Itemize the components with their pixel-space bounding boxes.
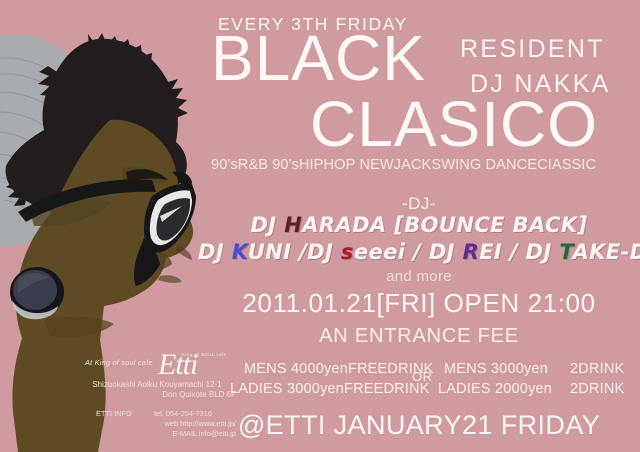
- dj-rei-rest: EI: [479, 240, 502, 264]
- dj-seeei-prefix: DJ: [307, 240, 341, 264]
- poster-text-column: EVERY 3TH FRIDAY BLACK RESIDENT DJ NAKKA…: [198, 0, 640, 452]
- venue-website: web http://www.etti.jp/: [78, 419, 236, 428]
- dj-rei-accent-letter: R: [463, 240, 480, 264]
- dj-separator-2: /: [405, 240, 429, 264]
- price-or-separator: OR: [412, 369, 433, 384]
- dj-separator-3: /: [502, 240, 526, 264]
- price-option-b-mens: MENS 3000yen: [444, 361, 548, 377]
- and-more-label: and more: [198, 268, 640, 285]
- price-option-a-ladies: LADIES 3000yenFREEDRINK: [230, 381, 430, 397]
- price-option-a-mens: MENS 4000yenFREEDRINK: [244, 361, 434, 377]
- price-option-b-ladies-drink: 2DRINK: [570, 381, 624, 397]
- event-flyer-poster: EVERY 3TH FRIDAY BLACK RESIDENT DJ NAKKA…: [0, 0, 640, 452]
- price-option-b-mens-drink: 2DRINK: [570, 361, 624, 377]
- dj-kuni-accent-letter: K: [232, 240, 248, 264]
- dj-seeei-accent-letter: s: [341, 240, 354, 264]
- dj-separator-1: /: [291, 240, 307, 264]
- dj-taked-prefix: DJ: [526, 240, 560, 264]
- title-clasico: CLASICO: [310, 92, 598, 156]
- venue-info-label: ETTI INFO: [96, 409, 132, 418]
- dj-lineup-line-2: DJ KUNI /DJ seeei / DJ REI / DJ TAKE-D: [198, 240, 640, 264]
- dj-line1-prefix: DJ: [250, 213, 284, 237]
- dj-kuni-rest: UNI: [248, 240, 292, 264]
- dj-rei-prefix: DJ: [429, 240, 463, 264]
- dj-line1-accent-letter: H: [284, 213, 302, 237]
- price-table: MENS 4000yenFREEDRINK LADIES 3000yenFREE…: [222, 359, 632, 405]
- venue-address-line-1: Shizuokashi Aoiku Kouyamachi 12-1: [78, 380, 236, 389]
- resident-label: RESIDENT: [460, 35, 605, 64]
- dj-taked-accent-letter: T: [559, 240, 572, 264]
- title-black: BLACK: [211, 26, 426, 90]
- venue-telephone: tel. 054-254-7316: [154, 409, 212, 418]
- dj-section-heading: -DJ-: [198, 194, 640, 214]
- dj-kuni-prefix: DJ: [198, 240, 232, 264]
- venue-tagline: At King of soul cafe: [85, 358, 153, 367]
- venue-address-line-2: Don Quixote BLD 6F: [78, 390, 236, 399]
- dj-line1-rest: ARADA [BOUNCE BACK]: [302, 213, 587, 237]
- venue-email: E-MAIL info@etti.jp: [78, 429, 236, 438]
- dj-seeei-rest: eeei: [354, 240, 406, 264]
- genres-line: 90'sR&B 90'sHIPHOP NEWJACKSWING DANCECIA…: [211, 157, 596, 173]
- price-option-b-ladies: LADIES 2000yen: [438, 381, 552, 397]
- venue-date-footer: @ETTI JANUARY21 FRIDAY: [198, 410, 640, 441]
- dj-lineup-line-1: DJ HARADA [BOUNCE BACK]: [198, 213, 640, 237]
- dj-taked-rest: AKE-D: [573, 240, 640, 264]
- entrance-fee-heading: AN ENTRANCE FEE: [198, 325, 640, 348]
- venue-logo: Etti: [158, 348, 197, 382]
- event-datetime: 2011.01.21[FRI] OPEN 21:00: [198, 288, 640, 319]
